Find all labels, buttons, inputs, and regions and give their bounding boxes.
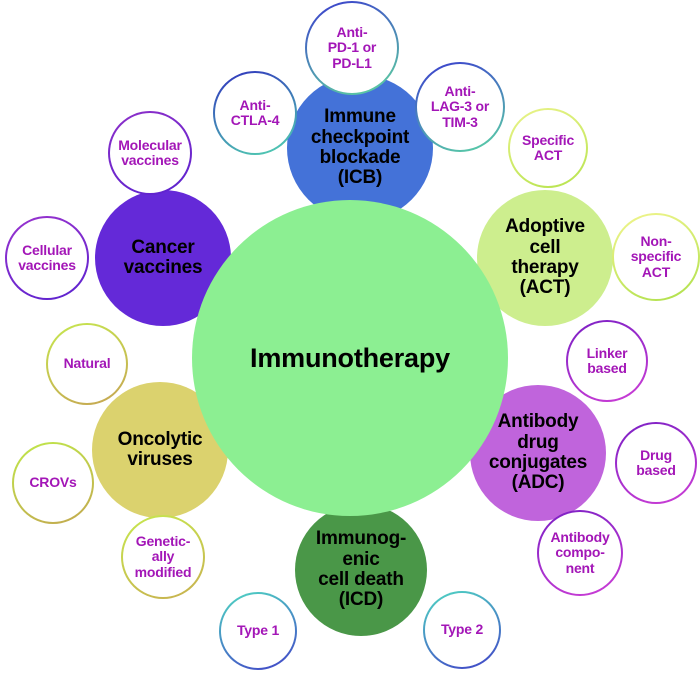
satellite-body: Non- specific ACT (614, 215, 698, 299)
satellite-body: Type 1 (221, 594, 295, 668)
branch-immune-checkpoint-blockade[interactable]: Immune checkpoint blockade (ICB) (287, 75, 433, 221)
branch-label-cancer-vaccines: Cancer vaccines (124, 238, 203, 279)
satellite-label-genetically-modified: Genetic- ally modified (135, 534, 192, 580)
satellite-label-drug-based: Drug based (636, 448, 675, 479)
satellite-label-molecular-vaccines: Molecular vaccines (118, 138, 182, 169)
satellite-anti-ctla-4[interactable]: Anti- CTLA-4 (213, 71, 297, 155)
branch-label-adoptive-cell-therapy: Adoptive cell therapy (ACT) (505, 217, 585, 298)
satellite-label-antibody-component: Antibody compo- nent (550, 530, 609, 576)
satellite-genetically-modified[interactable]: Genetic- ally modified (121, 515, 205, 599)
satellite-body: Molecular vaccines (110, 113, 190, 193)
satellite-body: Antibody compo- nent (539, 512, 621, 594)
satellite-label-natural: Natural (64, 356, 111, 371)
satellite-specific-act[interactable]: Specific ACT (508, 108, 588, 188)
satellite-molecular-vaccines[interactable]: Molecular vaccines (108, 111, 192, 195)
satellite-antibody-component[interactable]: Antibody compo- nent (537, 510, 623, 596)
satellite-drug-based[interactable]: Drug based (615, 422, 697, 504)
satellite-anti-lag-3-or-tim-3[interactable]: Anti- LAG-3 or TIM-3 (415, 62, 505, 152)
branch-immunogenic-cell-death[interactable]: Immunog- enic cell death (ICD) (295, 504, 427, 636)
satellite-body: Type 2 (425, 593, 499, 667)
branch-label-oncolytic-viruses: Oncolytic viruses (118, 430, 203, 471)
satellite-body: Anti- CTLA-4 (215, 73, 295, 153)
satellite-body: Specific ACT (510, 110, 586, 186)
satellite-body: CROVs (14, 444, 92, 522)
satellite-body: Anti- PD-1 or PD-L1 (307, 3, 397, 93)
satellite-label-anti-lag-3-or-tim-3: Anti- LAG-3 or TIM-3 (431, 84, 489, 130)
satellite-cellular-vaccines[interactable]: Cellular vaccines (5, 216, 89, 300)
satellite-body: Linker based (568, 322, 646, 400)
satellite-label-anti-pd-1-or-pd-l1: Anti- PD-1 or PD-L1 (328, 25, 376, 71)
satellite-body: Genetic- ally modified (123, 517, 203, 597)
satellite-linker-based[interactable]: Linker based (566, 320, 648, 402)
hub-label: Immunotherapy (250, 343, 450, 373)
immunotherapy-diagram: ImmunotherapyAnti- CTLA-4Anti- PD-1 or P… (0, 0, 700, 677)
satellite-label-linker-based: Linker based (587, 346, 628, 377)
satellite-label-anti-ctla-4: Anti- CTLA-4 (231, 98, 280, 129)
satellite-type-2[interactable]: Type 2 (423, 591, 501, 669)
satellite-label-cellular-vaccines: Cellular vaccines (18, 243, 76, 274)
satellite-crovs[interactable]: CROVs (12, 442, 94, 524)
satellite-body: Natural (48, 325, 126, 403)
satellite-label-type-1: Type 1 (237, 623, 279, 638)
satellite-non-specific-act[interactable]: Non- specific ACT (612, 213, 700, 301)
satellite-anti-pd-1-or-pd-l1[interactable]: Anti- PD-1 or PD-L1 (305, 1, 399, 95)
satellite-natural[interactable]: Natural (46, 323, 128, 405)
branch-label-antibody-drug-conjugates: Antibody drug conjugates (ADC) (489, 412, 587, 493)
satellite-label-crovs: CROVs (29, 475, 76, 490)
satellite-body: Anti- LAG-3 or TIM-3 (417, 64, 503, 150)
satellite-type-1[interactable]: Type 1 (219, 592, 297, 670)
branch-label-immune-checkpoint-blockade: Immune checkpoint blockade (ICB) (311, 107, 409, 188)
satellite-body: Drug based (617, 424, 695, 502)
branch-label-immunogenic-cell-death: Immunog- enic cell death (ICD) (316, 529, 406, 610)
hub-immunotherapy-hub[interactable]: Immunotherapy (192, 200, 508, 516)
satellite-label-non-specific-act: Non- specific ACT (631, 234, 682, 280)
satellite-label-type-2: Type 2 (441, 622, 483, 637)
satellite-body: Cellular vaccines (7, 218, 87, 298)
satellite-label-specific-act: Specific ACT (522, 133, 574, 164)
